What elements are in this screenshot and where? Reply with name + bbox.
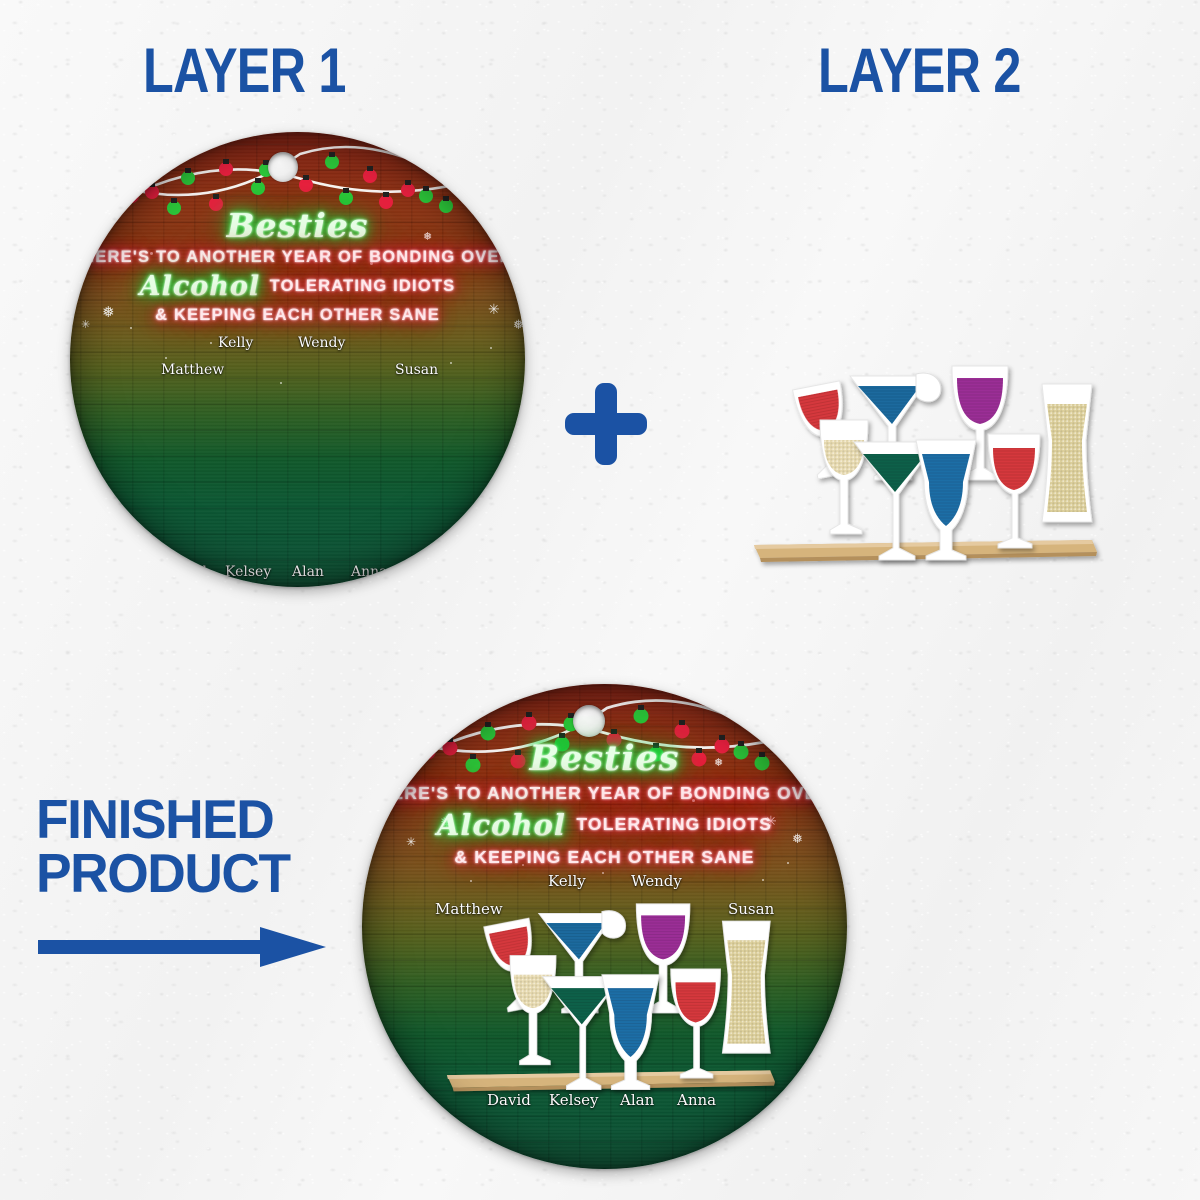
finished-product-ornament: ❅ ✳ ✳ ❅ ❅ Besties HERE'S TO ANOTHER YEAR… <box>362 684 847 1169</box>
ornament-name-kelsey: Kelsey <box>549 1091 599 1109</box>
layer2-heading: LAYER 2 <box>818 40 1021 103</box>
red-wine-glass <box>988 434 1040 548</box>
finished-product-heading-line2: PRODUCT <box>36 847 290 901</box>
layer1-heading: LAYER 1 <box>143 40 346 103</box>
ornament-name-david: David <box>166 564 207 580</box>
arrow-right-icon <box>38 925 326 969</box>
beer-pilsner-glass <box>1042 384 1092 522</box>
finished-product-heading: FINISHED PRODUCT <box>36 793 290 901</box>
finished-product-heading-line1: FINISHED <box>36 793 290 847</box>
ornament-name-david: David <box>487 1091 531 1109</box>
layer1-ornament: ❅ ✳ ✳ ❅ ❅ Besties HERE'S TO ANOTHER YEAR… <box>70 132 525 587</box>
plus-icon <box>565 383 647 465</box>
layer2-glass-cluster <box>752 360 1097 575</box>
ornament-name-alan: Alan <box>620 1091 654 1109</box>
ornament-name-anna: Anna <box>677 1091 716 1109</box>
